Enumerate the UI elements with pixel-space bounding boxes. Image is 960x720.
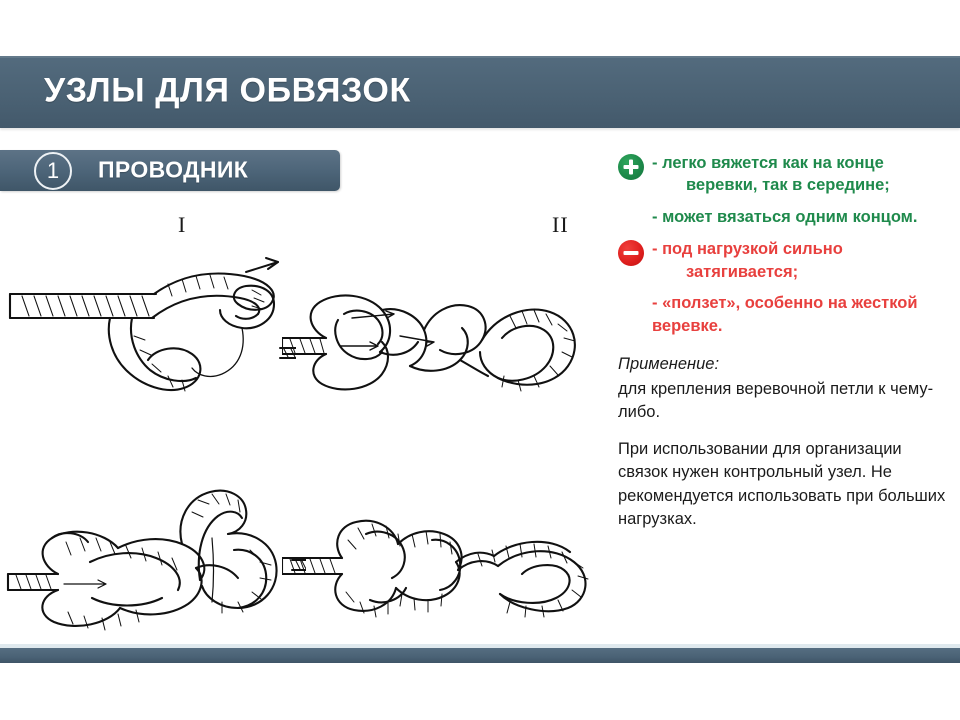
cons-item: - «ползет», особенно на жесткой веревке.	[652, 292, 954, 337]
cons-item: - под нагрузкой сильно затягивается;	[652, 238, 954, 283]
section-number-circle: 1	[34, 152, 72, 190]
usage-heading: Применение:	[618, 353, 954, 377]
pros-item: - может вязаться одним концом.	[652, 206, 954, 228]
plus-circle-icon	[618, 154, 644, 180]
usage-block: Применение: для крепления веревочной пет…	[618, 353, 954, 531]
slide-page: УЗЛЫ ДЛЯ ОБВЯЗОК 1 ПРОВОДНИК I II	[0, 0, 960, 720]
knot-figure-eight-rethreaded-step	[6, 478, 306, 648]
section-number: 1	[47, 160, 59, 182]
cons-block: - под нагрузкой сильно затягивается; - «…	[618, 238, 954, 337]
minus-bar-horizontal	[624, 251, 639, 255]
step-label-two: II	[552, 212, 569, 238]
knot-figure-eight-tying-step	[6, 236, 296, 426]
usage-paragraph: для крепления веревочной петли к чему-ли…	[618, 378, 954, 425]
header-highlight	[0, 56, 960, 58]
info-column: - легко вяжется как на конце веревки, та…	[618, 152, 954, 532]
cons-list: - под нагрузкой сильно затягивается; - «…	[618, 238, 954, 337]
pros-item: - легко вяжется как на конце веревки, та…	[652, 152, 954, 197]
footer-bar	[0, 648, 960, 663]
plus-bar-vertical	[629, 160, 633, 175]
header-bar: УЗЛЫ ДЛЯ ОБВЯЗОК	[0, 56, 960, 128]
page-title: УЗЛЫ ДЛЯ ОБВЯЗОК	[44, 72, 411, 111]
usage-paragraph: При использовании для организации связок…	[618, 438, 954, 532]
section-label: ПРОВОДНИК	[98, 156, 248, 183]
pros-block: - легко вяжется как на конце веревки, та…	[618, 152, 954, 228]
knot-figure-eight-loop-dressed	[282, 496, 602, 636]
knot-figure-eight-loop-finished	[282, 272, 602, 412]
pros-list: - легко вяжется как на конце веревки, та…	[618, 152, 954, 228]
step-label-one: I	[178, 212, 186, 238]
section-badge: 1 ПРОВОДНИК	[0, 150, 340, 191]
illustration-area: I II	[0, 200, 612, 650]
